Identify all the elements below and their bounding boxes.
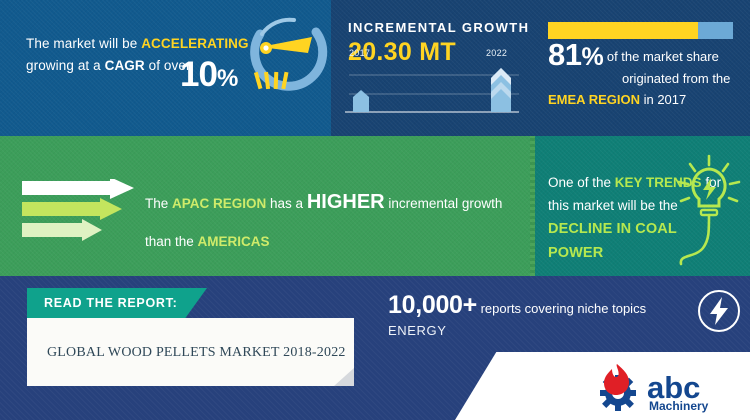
market-share-value: 81% — [548, 37, 603, 72]
apac-line2-pre: than the — [145, 234, 198, 249]
arrow-americas — [22, 198, 122, 220]
panel-key-trends: One of the KEY TRENDS for this market wi… — [530, 136, 750, 276]
x-tick-2017: 2017 — [349, 48, 370, 58]
trend-line2: this market will be the — [548, 198, 678, 213]
flame-icon — [604, 364, 629, 395]
reports-count-line: 10,000+ reports covering niche topics — [388, 291, 646, 320]
report-category: ENERGY — [388, 323, 447, 338]
infographic-canvas: The market will be ACCELERATING growing … — [0, 0, 750, 420]
growth-bar-chart — [341, 66, 523, 124]
cagr-bold-label: CAGR — [105, 58, 145, 73]
cagr-value: 10% — [180, 55, 237, 95]
panel-apac: The APAC REGION has a HIGHER incremental… — [0, 136, 530, 276]
cagr-line2-pre: growing at a — [26, 58, 105, 73]
report-title: GLOBAL WOOD PELLETS MARKET 2018-2022 — [47, 345, 346, 361]
apac-pre: The — [145, 196, 172, 211]
x-tick-2022: 2022 — [486, 48, 507, 58]
arrow-apac — [22, 179, 134, 199]
region-arrows-icon — [22, 179, 140, 241]
lightning-bolt-icon — [696, 288, 742, 334]
apac-statement: The APAC REGION has a HIGHER incremental… — [145, 183, 515, 261]
market-share-line2: originated from the — [622, 71, 730, 86]
lightbulb-icon — [673, 154, 747, 272]
arrow-other — [22, 219, 102, 241]
abc-machinery-logo: abc Machinery — [585, 358, 745, 414]
speedometer-icon — [238, 10, 330, 110]
apac-mid1: has a — [266, 196, 307, 211]
market-share-line3: in 2017 — [640, 92, 686, 107]
apac-higher-emph: HIGHER — [307, 191, 385, 213]
market-share-statement: 81% of the market share originated from … — [548, 44, 748, 110]
panel-incremental-growth: INCREMENTAL GROWTH 20.30 MT 2017 2022 — [331, 0, 530, 136]
apac-mid2: incremental growth — [385, 196, 503, 211]
cagr-accelerating-highlight: ACCELERATING — [141, 36, 248, 51]
market-share-line1: of the market share — [607, 49, 719, 64]
trend-line1-pre: One of the — [548, 175, 615, 190]
apac-americas-highlight: AMERICAS — [198, 234, 270, 249]
panel-cagr: The market will be ACCELERATING growing … — [0, 0, 331, 136]
read-the-report-tab[interactable]: READ THE REPORT: — [27, 288, 207, 318]
report-card[interactable]: GLOBAL WOOD PELLETS MARKET 2018-2022 — [27, 318, 354, 386]
market-share-number: 81 — [548, 37, 581, 72]
panel-left-edge-stripe — [530, 136, 535, 276]
read-the-report-label: READ THE REPORT: — [44, 296, 177, 310]
apac-region-highlight: APAC REGION — [172, 196, 266, 211]
market-share-region: EMEA REGION — [548, 92, 640, 107]
cagr-value-unit: % — [217, 65, 237, 92]
market-share-unit: % — [581, 43, 603, 71]
cagr-value-number: 10 — [180, 55, 217, 94]
bar-2017 — [353, 90, 369, 112]
cagr-line1-pre: The market will be — [26, 36, 141, 51]
reports-count: 10,000+ — [388, 291, 477, 319]
panel-market-share: 81% of the market share originated from … — [530, 0, 750, 136]
growth-title: INCREMENTAL GROWTH — [348, 20, 529, 35]
logo-subtext: Machinery — [649, 399, 709, 413]
trend-line3-highlight: DECLINE IN COAL POWER — [548, 221, 677, 261]
reports-count-caption: reports covering niche topics — [481, 301, 646, 316]
